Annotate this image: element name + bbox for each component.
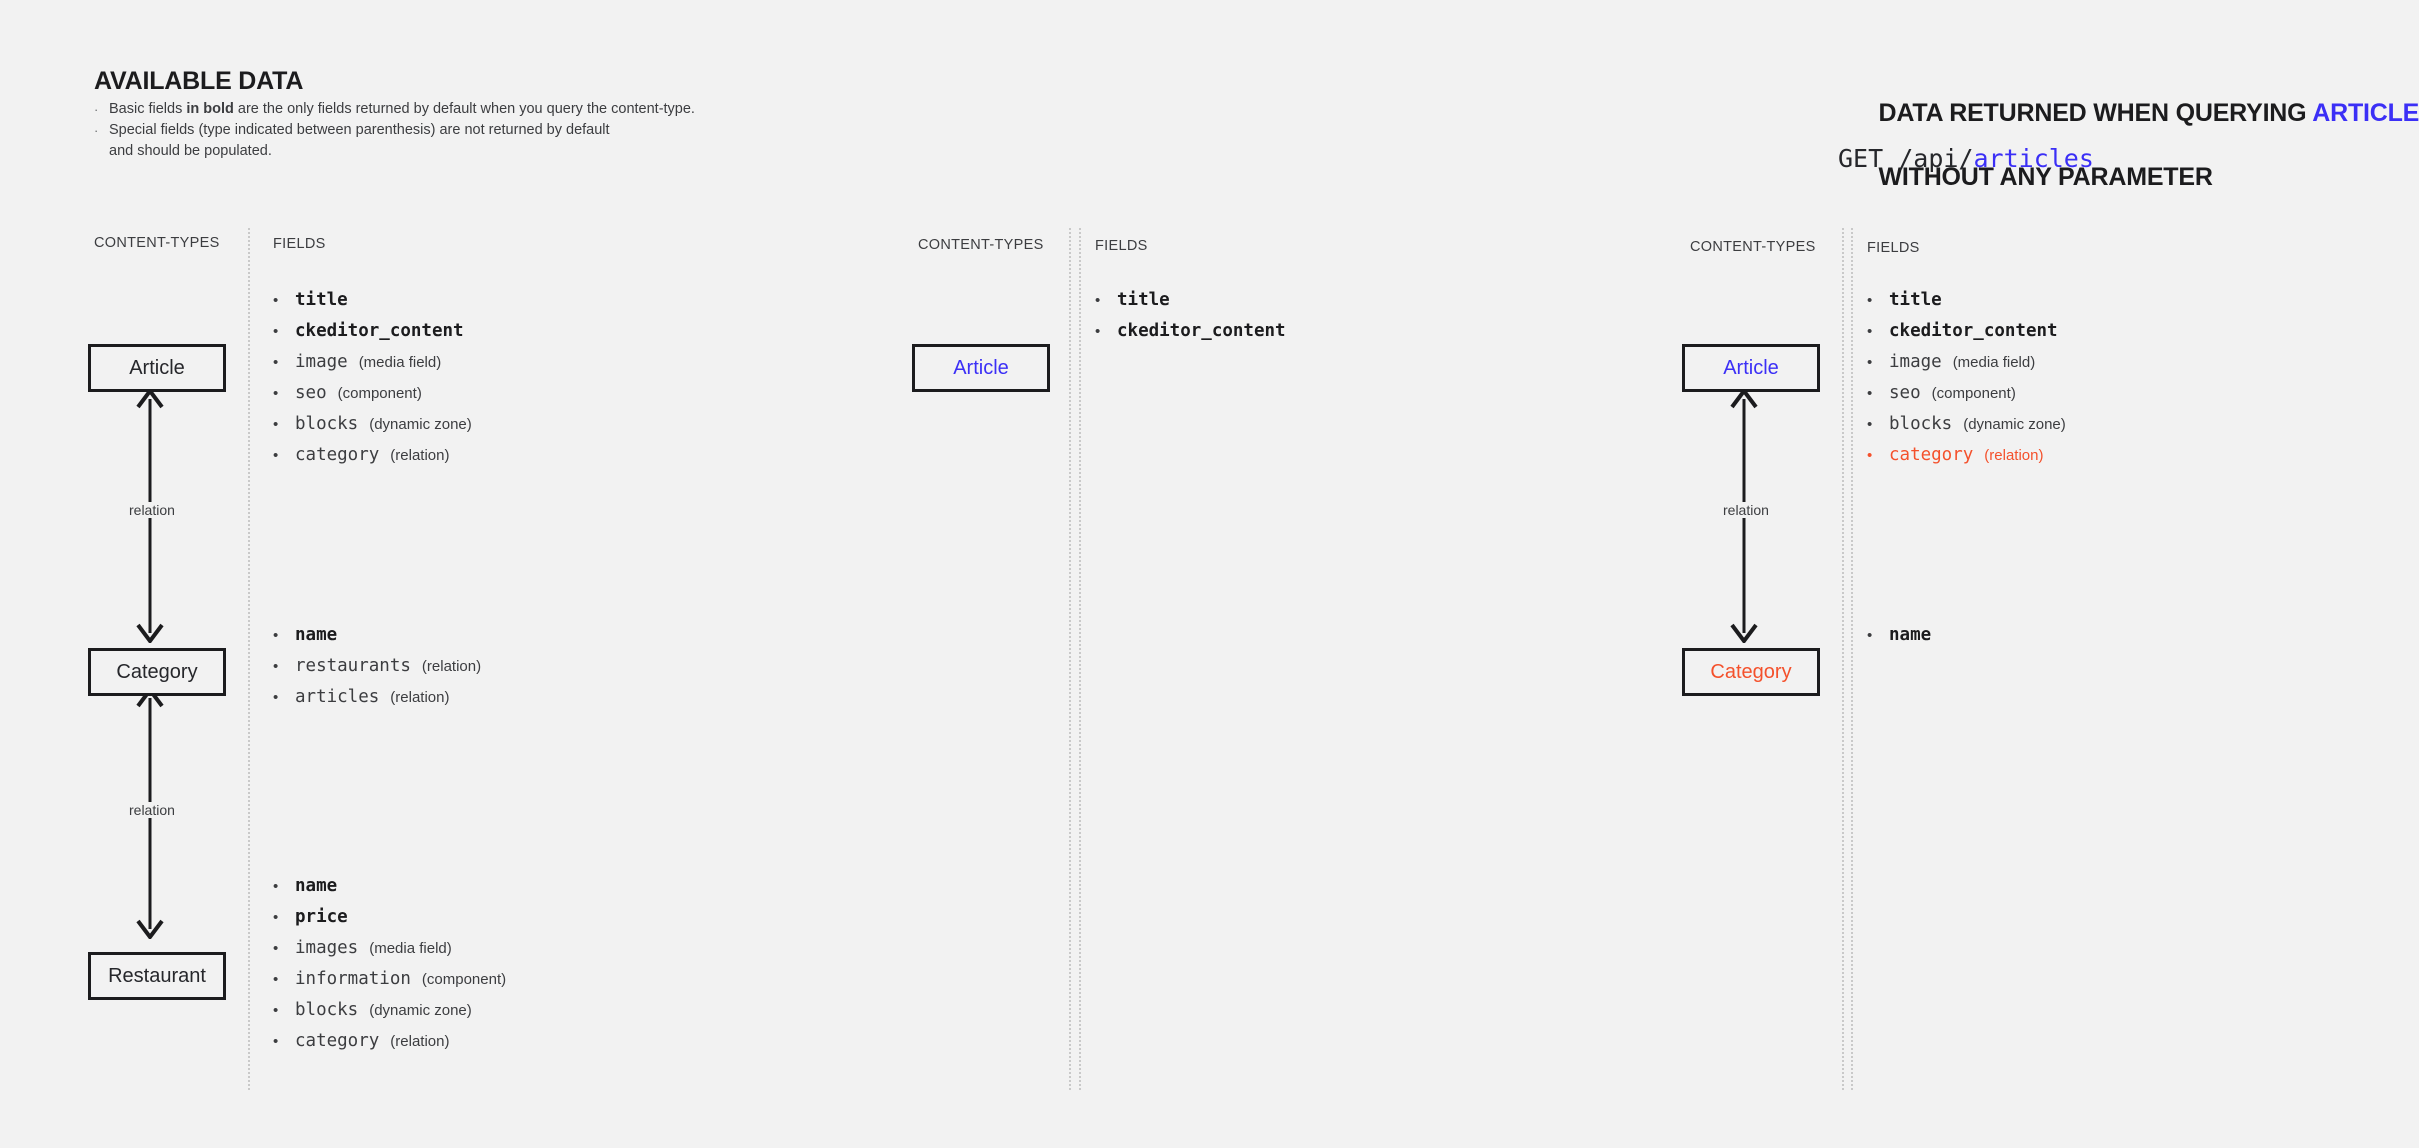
column-label-fields-1: FIELDS [273,236,326,252]
field-name: title [295,290,348,310]
bullet-dot-icon: • [1867,323,1889,340]
field-row: •category(relation) [273,1031,506,1062]
field-name: category [295,445,379,465]
field-name: name [1889,625,1931,645]
content-type-label: Article [129,357,185,380]
field-row: •images(media field) [273,938,506,969]
field-row: •name [1867,625,1931,656]
content-type-box-category-3[interactable]: Category [1682,648,1820,696]
available-data-notes: ·Basic fields in bold are the only field… [94,99,854,162]
field-row: •articles(relation) [273,687,481,718]
field-type: (relation) [422,658,481,675]
field-row: •category(relation) [1867,445,2066,476]
relation-label-2: relation [125,802,179,818]
bullet-dot-icon: • [273,627,295,644]
bullet-dot-icon: • [273,385,295,402]
field-name: blocks [295,414,358,434]
bullet-dot-icon: • [273,323,295,340]
field-name: category [1889,445,1973,465]
field-name: ckeditor_content [1117,321,1286,341]
content-type-label: Category [1710,661,1791,684]
relation-label-3: relation [1719,502,1773,518]
field-list-article-3: •title•ckeditor_content•image(media fiel… [1867,290,2066,476]
bullet-dot-icon: • [1867,385,1889,402]
field-list-article-2: •title•ckeditor_content [1095,290,1286,352]
page-title-available-data: AVAILABLE DATA [94,65,854,97]
field-name: title [1117,290,1170,310]
field-row: •blocks(dynamic zone) [273,1000,506,1031]
bullet-dot-icon: • [1867,447,1889,464]
field-list-category-3: •name [1867,625,1931,656]
field-name: seo [1889,383,1921,403]
field-row: •title [1867,290,2066,321]
field-row: •image(media field) [273,352,472,383]
field-type: (component) [338,385,422,402]
field-type: (media field) [1953,354,2036,371]
field-row: •blocks(dynamic zone) [273,414,472,445]
field-type: (dynamic zone) [369,1002,472,1019]
field-name: image [1889,352,1942,372]
bullet-dot-icon: • [1095,292,1117,309]
field-row: •information(component) [273,969,506,1000]
field-row: •category(relation) [273,445,472,476]
bullet-dot-icon: • [1095,323,1117,340]
field-row: •image(media field) [1867,352,2066,383]
field-list-restaurant-1: •name•price•images(media field)•informat… [273,876,506,1062]
note-text: are the only fields returned by default … [234,101,695,117]
field-name: images [295,938,358,958]
note-text: and should be populated. [109,143,272,159]
field-row: •name [273,625,481,656]
bullet-dot-icon: · [94,120,109,141]
field-row: •ckeditor_content [273,321,472,352]
field-name: name [295,876,337,896]
bullet-dot-icon: • [273,878,295,895]
field-type: (dynamic zone) [369,416,472,433]
column-divider-2 [1069,228,1071,1090]
bullet-dot-icon: • [273,940,295,957]
field-name: restaurants [295,656,411,676]
content-type-box-article-2[interactable]: Article [912,344,1050,392]
bullet-dot-icon: • [1867,292,1889,309]
field-name: price [295,907,348,927]
bullet-dot-icon: • [273,971,295,988]
bullet-dot-icon: · [94,99,109,120]
field-row: •ckeditor_content [1095,321,1286,352]
column-label-fields-3: FIELDS [1867,240,1920,256]
bullet-dot-icon: • [273,909,295,926]
note-bullet-text: Special fields (type indicated between p… [109,120,854,162]
field-name: ckeditor_content [295,321,464,341]
column-divider-1 [248,228,250,1090]
field-row: •seo(component) [273,383,472,414]
content-type-label: Category [116,661,197,684]
field-row: •ckeditor_content [1867,321,2066,352]
field-type: (relation) [1984,447,2043,464]
panel-query-populate-deep: DATA RETURNED WHEN QUERYING ARTICLES AND… [1692,0,2419,1148]
field-name: ckeditor_content [1889,321,2058,341]
bullet-dot-icon: • [273,292,295,309]
field-row: •name [273,876,506,907]
note-emphasis: in bold [186,101,234,117]
field-row: •seo(component) [1867,383,2066,414]
diagram-page: AVAILABLE DATA ·Basic fields in bold are… [0,0,2419,1148]
bullet-dot-icon: • [273,658,295,675]
note-text: Basic fields [109,101,186,117]
column-label-content-types-2: CONTENT-TYPES [918,237,1044,253]
field-row: •blocks(dynamic zone) [1867,414,2066,445]
field-row: •title [273,290,472,321]
bullet-dot-icon: • [1867,354,1889,371]
panel-query-no-parameter: DATA RETURNED WHEN QUERYING ARTICLES WIT… [920,0,1692,1148]
field-type: (dynamic zone) [1963,416,2066,433]
field-name: title [1889,290,1942,310]
bullet-dot-icon: • [273,689,295,706]
field-name: image [295,352,348,372]
field-type: (component) [1932,385,2016,402]
field-name: seo [295,383,327,403]
bullet-dot-icon: • [273,354,295,371]
note-bullet: ·Special fields (type indicated between … [94,120,854,162]
field-list-category-1: •name•restaurants(relation)•articles(rel… [273,625,481,718]
field-name: name [295,625,337,645]
column-divider-3 [1842,228,1844,1090]
bullet-dot-icon: • [1867,627,1889,644]
content-type-box-restaurant-1[interactable]: Restaurant [88,952,226,1000]
content-type-box-article-3[interactable]: Article [1682,344,1820,392]
field-name: information [295,969,411,989]
field-name: blocks [295,1000,358,1020]
note-bullet: ·Basic fields in bold are the only field… [94,99,854,120]
note-bullet-text: Basic fields in bold are the only fields… [109,99,854,120]
content-type-box-category-1[interactable]: Category [88,648,226,696]
field-type: (component) [422,971,506,988]
field-type: (relation) [390,1033,449,1050]
field-name: articles [295,687,379,707]
content-type-box-article-1[interactable]: Article [88,344,226,392]
content-type-label: Restaurant [108,965,206,988]
content-type-label: Article [953,357,1009,380]
field-list-article-1: •title•ckeditor_content•image(media fiel… [273,290,472,476]
column-label-fields-2: FIELDS [1095,238,1148,254]
field-type: (relation) [390,447,449,464]
field-type: (relation) [390,689,449,706]
field-name: category [295,1031,379,1051]
column-label-content-types-1: CONTENT-TYPES [94,235,220,251]
content-type-label: Article [1723,357,1779,380]
field-row: •title [1095,290,1286,321]
bullet-dot-icon: • [273,447,295,464]
bullet-dot-icon: • [1867,416,1889,433]
bullet-dot-icon: • [273,416,295,433]
bullet-dot-icon: • [273,1002,295,1019]
field-name: blocks [1889,414,1952,434]
bullet-dot-icon: • [273,1033,295,1050]
note-text: Special fields (type indicated between p… [109,122,610,138]
field-row: •restaurants(relation) [273,656,481,687]
relation-label-1: relation [125,502,179,518]
field-type: (media field) [369,940,452,957]
column-label-content-types-3: CONTENT-TYPES [1690,239,1816,255]
field-type: (media field) [359,354,442,371]
panel-available-data: AVAILABLE DATA ·Basic fields in bold are… [0,0,920,1148]
field-row: •price [273,907,506,938]
